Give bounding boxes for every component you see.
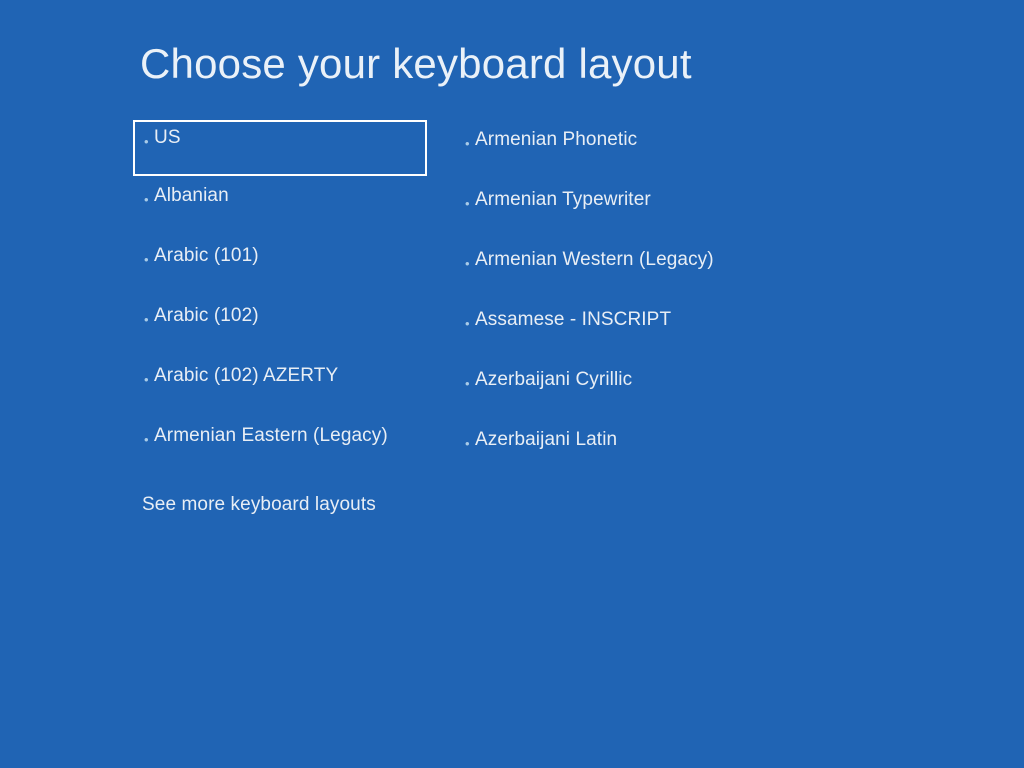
- keyboard-layout-item[interactable]: •Arabic (102): [133, 296, 433, 356]
- keyboard-layout-label: Armenian Typewriter: [475, 188, 785, 212]
- bullet-dot-icon: •: [465, 137, 475, 150]
- keyboard-layout-list-right: •Armenian Phonetic•Armenian Typewriter•A…: [455, 120, 785, 480]
- bullet-dot-icon: •: [465, 257, 475, 270]
- keyboard-layout-label: US: [154, 126, 425, 150]
- keyboard-layout-item[interactable]: •Arabic (102) AZERTY: [133, 356, 433, 416]
- keyboard-layout-label: Azerbaijani Cyrillic: [475, 368, 785, 392]
- keyboard-layout-item[interactable]: •Armenian Eastern (Legacy): [133, 416, 433, 476]
- keyboard-layout-label: Azerbaijani Latin: [475, 428, 785, 452]
- bullet-dot-icon: •: [144, 193, 154, 206]
- keyboard-layout-item[interactable]: •Armenian Typewriter: [455, 180, 785, 240]
- keyboard-layout-label: Arabic (101): [154, 244, 433, 268]
- keyboard-layout-item[interactable]: •Albanian: [133, 176, 433, 236]
- keyboard-layout-label: Armenian Western (Legacy): [475, 248, 785, 272]
- bullet-dot-icon: •: [144, 135, 154, 148]
- bullet-dot-icon: •: [144, 433, 154, 446]
- bullet-dot-icon: •: [144, 253, 154, 266]
- choose-keyboard-layout-screen: Choose your keyboard layout •US•Albanian…: [0, 0, 1024, 768]
- bullet-dot-icon: •: [144, 373, 154, 386]
- keyboard-layout-item[interactable]: •Azerbaijani Cyrillic: [455, 360, 785, 420]
- bullet-dot-icon: •: [465, 317, 475, 330]
- page-title: Choose your keyboard layout: [140, 38, 692, 90]
- keyboard-layout-label: Assamese - INSCRIPT: [475, 308, 785, 332]
- keyboard-layout-item[interactable]: •US: [133, 120, 427, 176]
- keyboard-layout-label: Armenian Phonetic: [475, 128, 785, 152]
- keyboard-layout-label: Arabic (102): [154, 304, 433, 328]
- bullet-dot-icon: •: [465, 377, 475, 390]
- keyboard-layout-item[interactable]: •Azerbaijani Latin: [455, 420, 785, 480]
- keyboard-layout-item[interactable]: •Armenian Phonetic: [455, 120, 785, 180]
- bullet-dot-icon: •: [144, 313, 154, 326]
- keyboard-layout-label: Arabic (102) AZERTY: [154, 364, 433, 388]
- keyboard-layout-item[interactable]: •Armenian Western (Legacy): [455, 240, 785, 300]
- keyboard-layout-list-left: •US•Albanian•Arabic (101)•Arabic (102)•A…: [133, 120, 433, 476]
- see-more-keyboard-layouts-link[interactable]: See more keyboard layouts: [142, 493, 376, 517]
- keyboard-layout-label: Armenian Eastern (Legacy): [154, 424, 433, 448]
- keyboard-layout-label: Albanian: [154, 184, 433, 208]
- keyboard-layout-item[interactable]: •Arabic (101): [133, 236, 433, 296]
- keyboard-layout-item[interactable]: •Assamese - INSCRIPT: [455, 300, 785, 360]
- bullet-dot-icon: •: [465, 197, 475, 210]
- bullet-dot-icon: •: [465, 437, 475, 450]
